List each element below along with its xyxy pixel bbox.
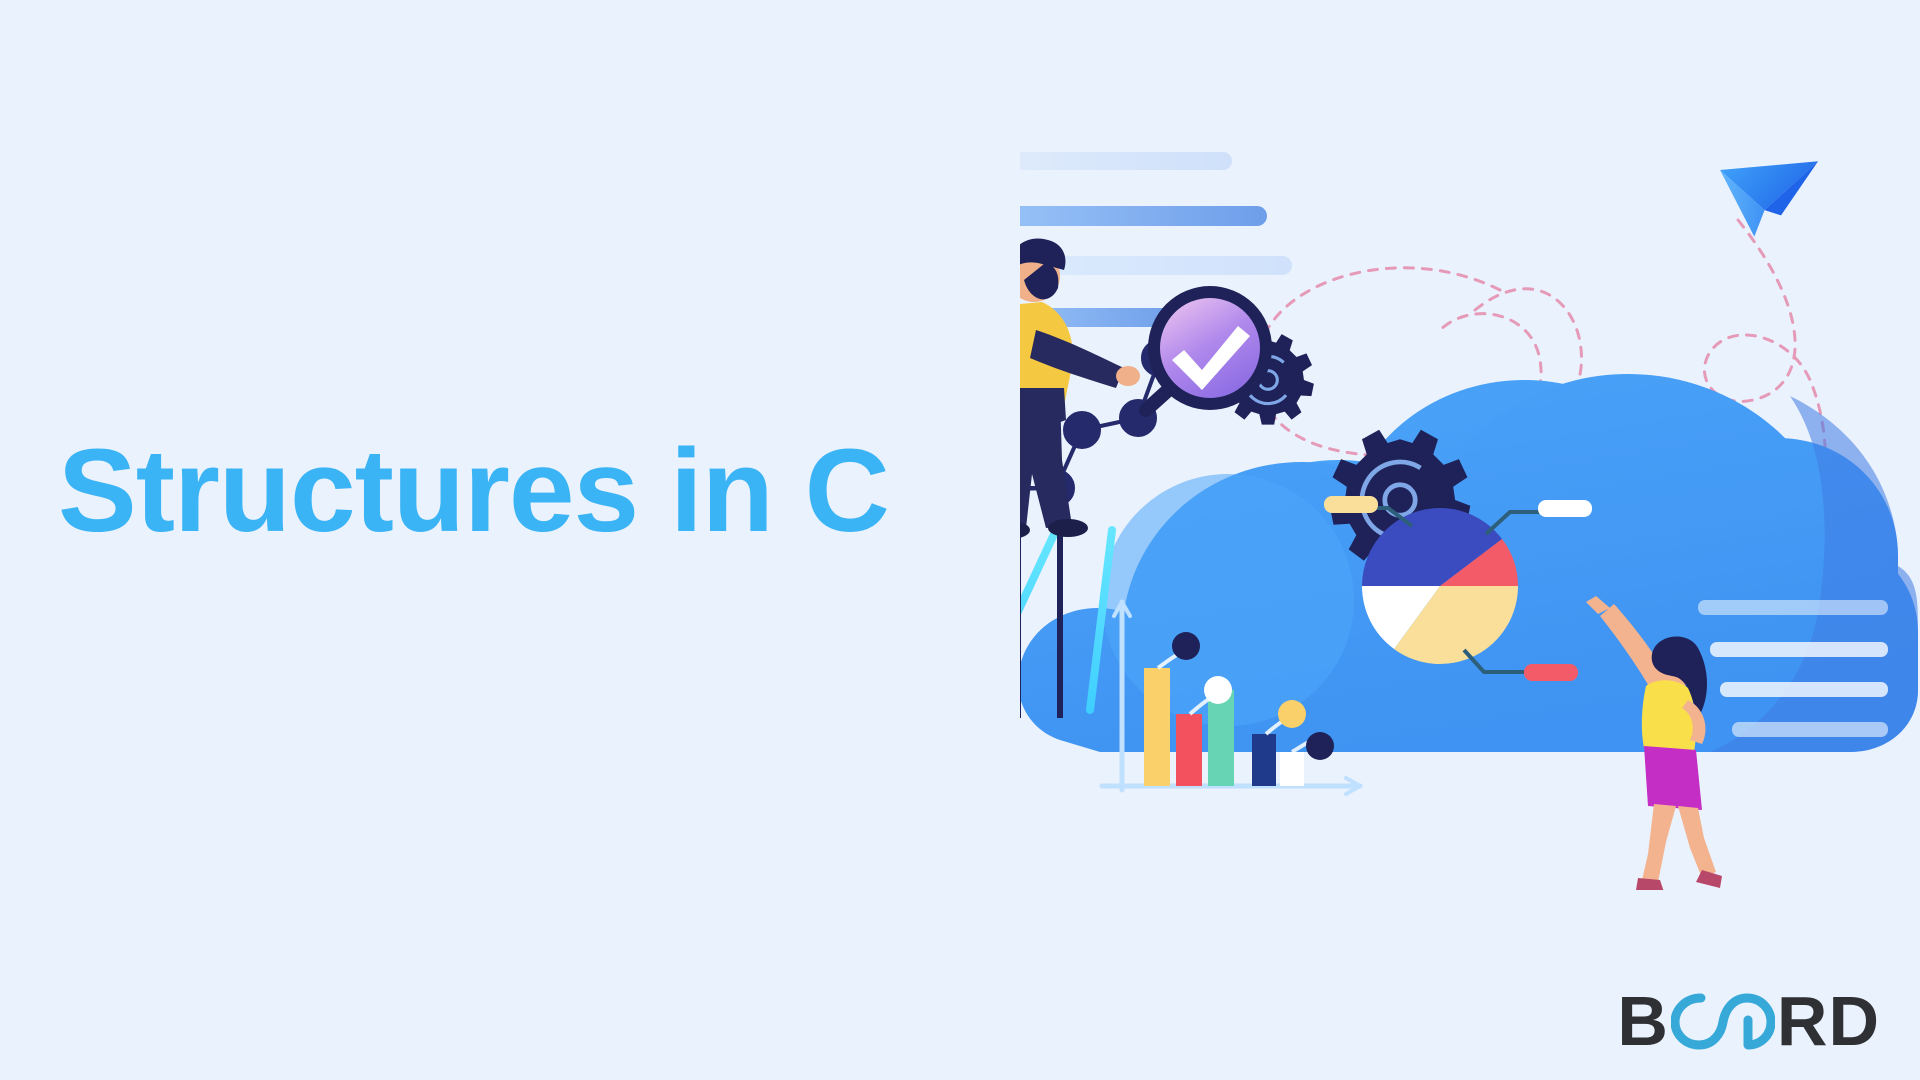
pie-tag-red — [1524, 664, 1578, 681]
paper-plane — [1720, 140, 1834, 240]
bar-marker-navy-1 — [1172, 632, 1200, 660]
bar-marker-navy-2 — [1306, 732, 1334, 760]
logo-text: B RD — [1617, 986, 1880, 1056]
pie-tag-white — [1538, 500, 1592, 517]
magnifier-lens — [1160, 298, 1260, 398]
magnifier-with-checkmark — [1146, 286, 1272, 410]
bar-5 — [1280, 752, 1304, 786]
man-shoe-right — [1048, 519, 1088, 537]
bar-3 — [1208, 690, 1234, 786]
page-title: Structures in C — [58, 430, 889, 554]
deco-bars-group — [1020, 152, 1292, 327]
woman-shoe-left — [1636, 878, 1664, 890]
magnifier-handle — [1146, 392, 1166, 410]
banner-canvas: Structures in C — [0, 0, 1920, 1080]
bar-2 — [1176, 714, 1202, 786]
pie-tag-cream — [1324, 496, 1378, 513]
bar-marker-yellow — [1278, 700, 1306, 728]
board-logo[interactable]: B RD — [1617, 982, 1880, 1060]
logo-letters-rd: RD — [1777, 986, 1880, 1056]
man-on-ladder — [1020, 238, 1140, 539]
cloud-analytics-illustration — [1020, 130, 1920, 890]
content-line-4 — [1732, 722, 1888, 737]
logo-letter-b: B — [1617, 986, 1669, 1056]
content-line-3 — [1720, 682, 1888, 697]
graph-node — [1065, 413, 1099, 447]
content-line-1 — [1698, 600, 1888, 615]
bar-4 — [1252, 734, 1276, 786]
deco-bar-2 — [1020, 206, 1267, 226]
bar-marker-white-1 — [1204, 676, 1232, 704]
man-hand — [1116, 366, 1140, 386]
deco-bar-1 — [1020, 152, 1232, 170]
bar-1 — [1144, 668, 1170, 786]
content-line-2 — [1710, 642, 1888, 657]
infinity-mark — [1671, 990, 1775, 1052]
